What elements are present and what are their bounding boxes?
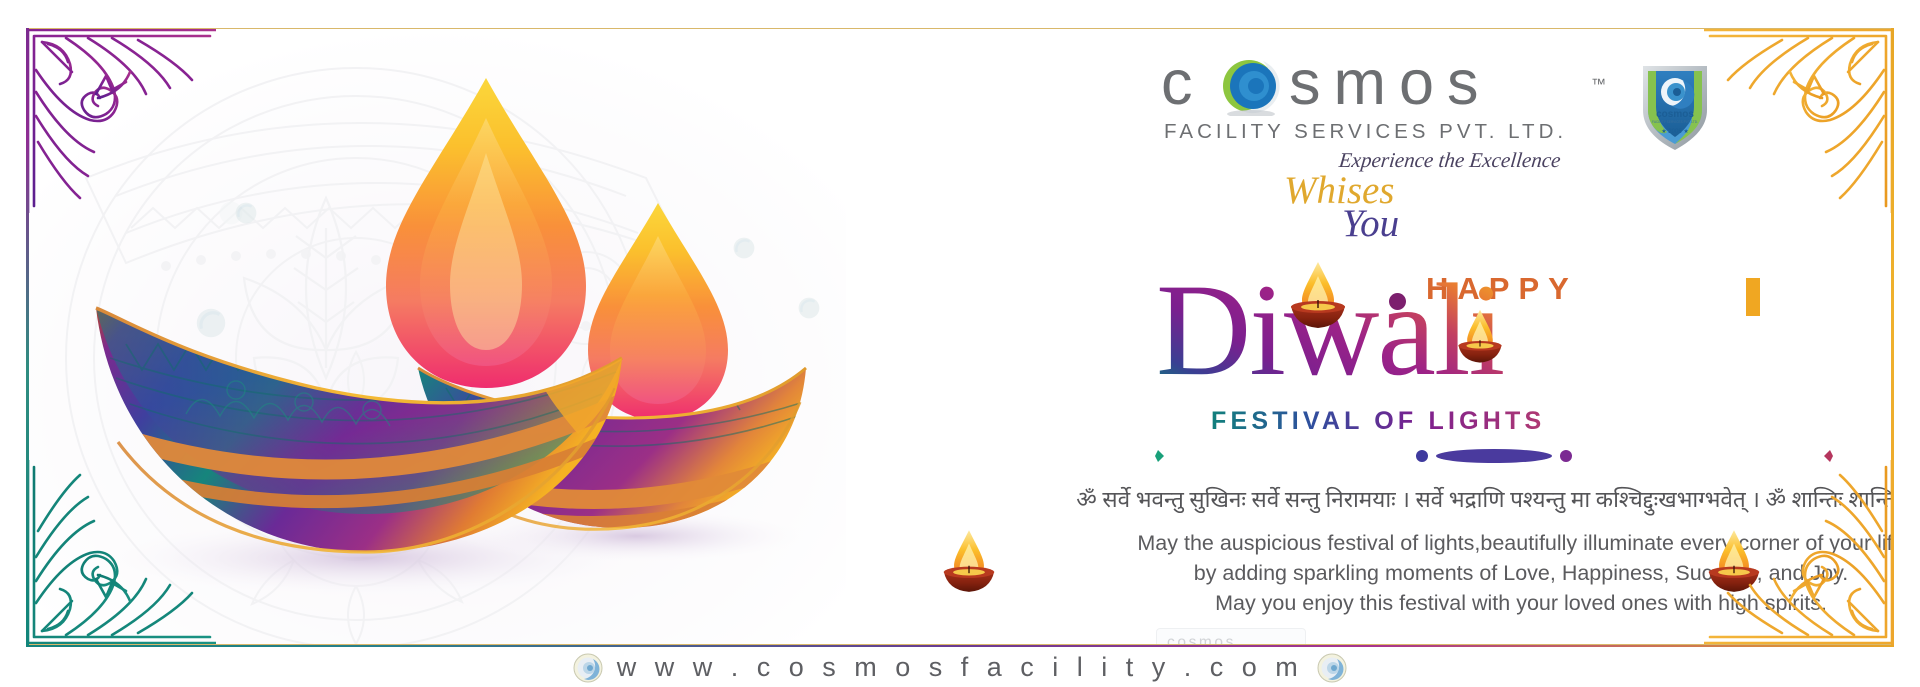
footer-watermark-logo: cosmos FACILITY SERVICES PVT. LTD. <box>1156 628 1306 645</box>
diwali-greeting-banner: c smos ™ FACILITY SERVICES <box>0 0 1920 687</box>
mini-diya-3 <box>941 528 997 596</box>
svg-text:cosmos: cosmos <box>1656 109 1694 120</box>
festival-subtitle: FESTIVAL OF LIGHTS <box>1211 406 1691 436</box>
cosmos-logo: c smos ™ FACILITY SERVICES <box>1161 54 1761 162</box>
corner-ornament-top-right <box>1704 28 1894 213</box>
corner-ornament-bottom-right <box>1704 460 1894 645</box>
corner-ornament-top-left <box>26 28 216 213</box>
cosmos-shield-badge: cosmos FACILITY SERVICES PVT. LTD. ★ 200… <box>1639 60 1711 150</box>
logo-subtitle: FACILITY SERVICES PVT. LTD. <box>1164 120 1567 144</box>
diwali-title: Diwali <box>1156 276 1876 391</box>
seal-icon-left <box>573 653 603 683</box>
svg-text:★ 2006 ★: ★ 2006 ★ <box>1661 128 1688 135</box>
watermark-wordmark: cosmos <box>1167 634 1236 645</box>
mini-diya-1 <box>1288 260 1348 332</box>
website-url[interactable]: w w w . c o s m o s f a c i l i t y . c … <box>617 652 1304 683</box>
footer-bar: w w w . c o s m o s f a c i l i t y . c … <box>0 648 1920 687</box>
seal-icon-right <box>1317 653 1347 683</box>
right-edge-accent <box>1891 28 1894 645</box>
svg-text:smos: smos <box>1289 54 1492 116</box>
cosmos-wordmark: c smos <box>1161 54 1631 116</box>
wishes-line-2: You <box>1342 201 1399 246</box>
trademark-symbol: ™ <box>1591 76 1606 93</box>
svg-text:c: c <box>1161 54 1206 116</box>
svg-text:FACILITY SERVICES PVT. LTD.: FACILITY SERVICES PVT. LTD. <box>1652 120 1698 124</box>
footer-divider-rule <box>26 645 1894 647</box>
corner-ornament-bottom-left <box>26 460 216 645</box>
left-edge-accent <box>26 28 29 645</box>
wishes-script: Whises You <box>1284 168 1544 258</box>
mini-diya-2 <box>1456 308 1504 366</box>
banner-card: c smos ™ FACILITY SERVICES <box>26 28 1894 645</box>
svg-text:FESTIVAL OF LIGHTS: FESTIVAL OF LIGHTS <box>1211 407 1545 435</box>
